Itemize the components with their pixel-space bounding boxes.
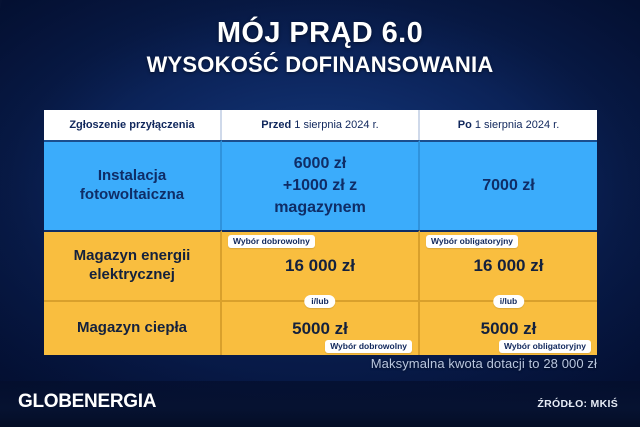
column-header-after: Po 1 sierpnia 2024 r. xyxy=(420,110,597,140)
row-pv-before-line1: 6000 zł xyxy=(294,153,346,175)
table-row: Magazyn energii elektrycznej Wybór dobro… xyxy=(44,230,597,300)
row-battery-before-amount: 16 000 zł xyxy=(285,256,355,276)
connector-badge: i/lub xyxy=(304,295,335,308)
source-credit: ŹRÓDŁO: MKIŚ xyxy=(537,398,618,410)
row-pv-before-line3: magazynem xyxy=(274,197,366,219)
column-header-category: Zgłoszenie przyłączenia xyxy=(44,110,222,140)
status-badge: Wybór obligatoryjny xyxy=(499,340,591,353)
row-heat-category: Magazyn ciepła xyxy=(44,300,222,355)
row-pv-after-value: 7000 zł xyxy=(420,140,597,230)
title-block: MÓJ PRĄD 6.0 WYSOKOŚĆ DOFINANSOWANIA xyxy=(0,18,640,78)
column-header-before-label: Przed 1 sierpnia 2024 r. xyxy=(261,119,378,131)
row-pv-category: Instalacja fotowoltaiczna xyxy=(44,140,222,230)
page-subtitle: WYSOKOŚĆ DOFINANSOWANIA xyxy=(0,53,640,77)
row-heat-before-value: 5000 zł Wybór dobrowolny xyxy=(222,300,420,355)
row-heat-after-amount: 5000 zł xyxy=(481,319,537,339)
row-pv-after-amount: 7000 zł xyxy=(482,175,534,197)
infographic: MÓJ PRĄD 6.0 WYSOKOŚĆ DOFINANSOWANIA Zgł… xyxy=(0,0,640,427)
row-heat-after-value: 5000 zł Wybór obligatoryjny xyxy=(420,300,597,355)
page-title: MÓJ PRĄD 6.0 xyxy=(0,18,640,49)
row-battery-after-value: Wybór obligatoryjny 16 000 zł i/lub xyxy=(420,230,597,300)
table-header-row: Zgłoszenie przyłączenia Przed 1 sierpnia… xyxy=(44,110,597,140)
row-pv-category-label: Instalacja fotowoltaiczna xyxy=(50,167,214,205)
table-row: Instalacja fotowoltaiczna 6000 zł +1000 … xyxy=(44,140,597,230)
column-header-before-bold: Przed xyxy=(261,119,291,131)
status-badge: Wybór dobrowolny xyxy=(325,340,412,353)
column-header-before-rest: 1 sierpnia 2024 r. xyxy=(291,119,378,131)
row-heat-before-amount: 5000 zł xyxy=(292,319,348,339)
footer-bar: GLOBENERGIA ŹRÓDŁO: MKIŚ xyxy=(0,381,640,427)
column-header-category-label: Zgłoszenie przyłączenia xyxy=(69,119,194,131)
row-heat-category-label: Magazyn ciepła xyxy=(77,319,187,338)
row-pv-before-value: 6000 zł +1000 zł z magazynem xyxy=(222,140,420,230)
connector-badge: i/lub xyxy=(493,295,524,308)
row-pv-before-line2: +1000 zł z xyxy=(283,175,357,197)
row-battery-category-line1: Magazyn energii xyxy=(74,247,191,266)
row-battery-category: Magazyn energii elektrycznej xyxy=(44,230,222,300)
row-battery-after-amount: 16 000 zł xyxy=(474,256,544,276)
brand-logo: GLOBENERGIA xyxy=(18,391,156,413)
table-row: Magazyn ciepła 5000 zł Wybór dobrowolny … xyxy=(44,300,597,355)
row-battery-category-line2: elektrycznej xyxy=(89,266,175,285)
subsidy-table: Zgłoszenie przyłączenia Przed 1 sierpnia… xyxy=(44,110,597,355)
status-badge: Wybór dobrowolny xyxy=(228,235,315,248)
status-badge: Wybór obligatoryjny xyxy=(426,235,518,248)
footnote: Maksymalna kwota dotacji to 28 000 zł xyxy=(371,356,597,371)
column-header-after-label: Po 1 sierpnia 2024 r. xyxy=(458,119,560,131)
column-header-after-bold: Po xyxy=(458,119,472,131)
row-battery-before-value: Wybór dobrowolny 16 000 zł i/lub xyxy=(222,230,420,300)
column-header-before: Przed 1 sierpnia 2024 r. xyxy=(222,110,420,140)
column-header-after-rest: 1 sierpnia 2024 r. xyxy=(472,119,559,131)
